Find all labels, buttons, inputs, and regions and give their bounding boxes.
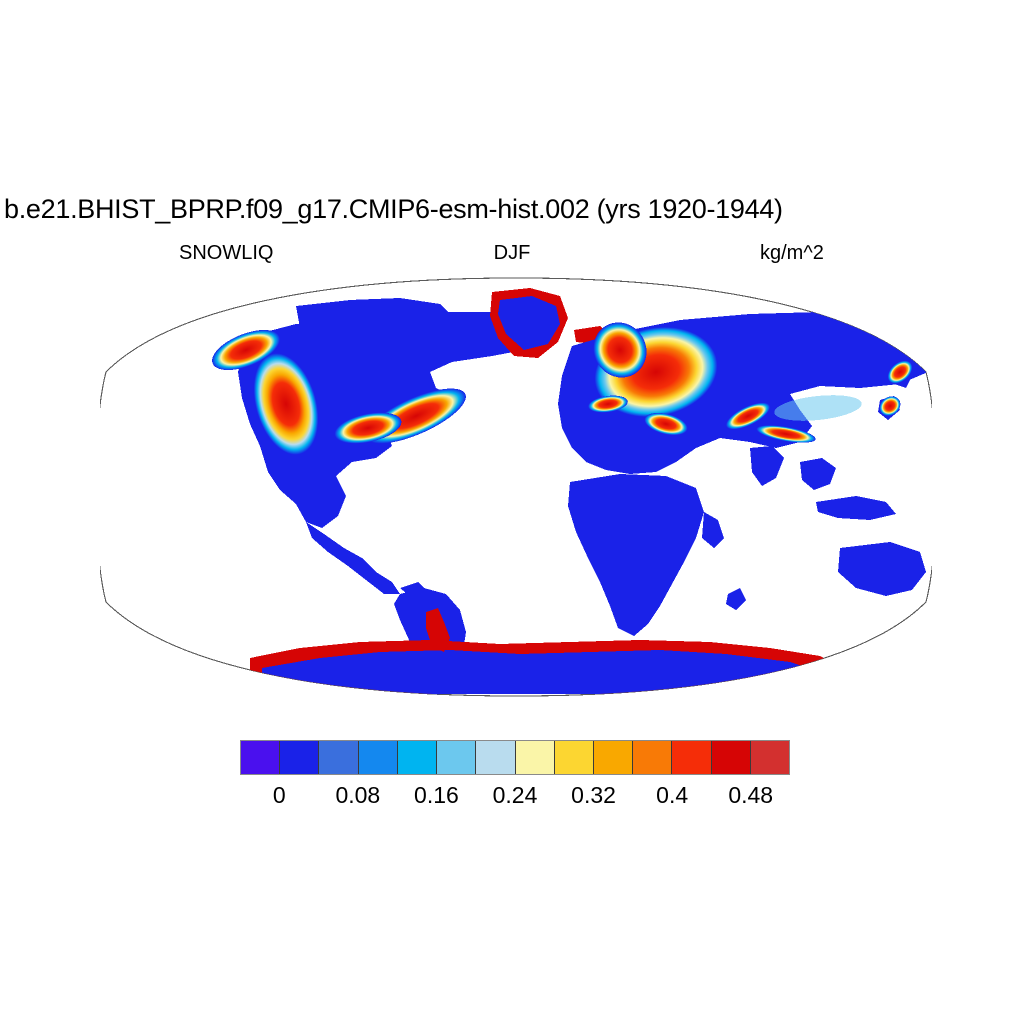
colorbar-segment [712, 741, 751, 774]
colorbar-tick-label: 0.24 [493, 780, 538, 810]
season-label: DJF [0, 240, 1024, 266]
climate-map-figure: b.e21.BHIST_BPRP.f09_g17.CMIP6-esm-hist.… [0, 0, 1024, 1024]
colorbar-segment [594, 741, 633, 774]
colorbar-tick-label: 0 [273, 780, 286, 810]
colorbar-segment [319, 741, 358, 774]
colorbar-tick-label: 0.08 [335, 780, 380, 810]
figure-title: b.e21.BHIST_BPRP.f09_g17.CMIP6-esm-hist.… [4, 193, 1020, 225]
colorbar-segment [359, 741, 398, 774]
colorbar-segment [280, 741, 319, 774]
colorbar-tick-labels: 00.080.160.240.320.40.48 [240, 780, 790, 810]
map-panel [100, 276, 932, 698]
colorbar-segment [672, 741, 711, 774]
colorbar-segment [516, 741, 555, 774]
units-label: kg/m^2 [760, 240, 824, 266]
colorbar-tick-label: 0.16 [414, 780, 459, 810]
antarctica-interior [262, 650, 826, 694]
colorbar-tick-label: 0.32 [571, 780, 616, 810]
colorbar[interactable] [240, 740, 790, 775]
colorbar-tick-label: 0.4 [656, 780, 688, 810]
colorbar-segment [437, 741, 476, 774]
colorbar-segment [751, 741, 789, 774]
colorbar-tick-label: 0.48 [728, 780, 773, 810]
colorbar-segment [555, 741, 594, 774]
colorbar-segment [241, 741, 280, 774]
colorbar-segment [398, 741, 437, 774]
colorbar-segment [476, 741, 515, 774]
colorbar-segment [633, 741, 672, 774]
